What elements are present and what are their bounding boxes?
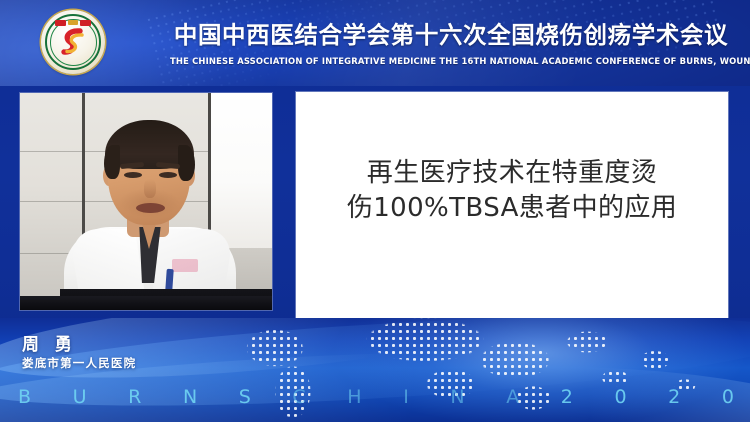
speaker-organization-label: 娄底市第一人民医院	[22, 355, 136, 371]
speaker-nose	[144, 179, 156, 198]
speaker-eye-right	[159, 172, 177, 178]
broadcast-stage: 中国中西医结合学会第十六次全国烧伤创疡学术会议 THE CHINESE ASSO…	[0, 0, 750, 422]
speaker-name-label: 周 勇	[22, 330, 77, 355]
conference-header-banner: 中国中西医结合学会第十六次全国烧伤创疡学术会议 THE CHINESE ASSO…	[0, 0, 750, 86]
world-map-dots-graphic	[215, 318, 750, 422]
slide-title-line2: 伤100%TBSA患者中的应用	[332, 191, 692, 226]
speaker-mouth	[136, 203, 165, 213]
speaker-hair-right	[178, 145, 195, 181]
speaker-podium-front	[20, 296, 272, 310]
speaker-eye-left	[124, 172, 142, 178]
speaker-coat-badge	[172, 259, 198, 272]
speaker-video-panel[interactable]	[20, 93, 272, 310]
slide-title-line1: 再生医疗技术在特重度烫	[332, 156, 692, 191]
conference-title-cn: 中国中西医结合学会第十六次全国烧伤创疡学术会议	[170, 20, 732, 50]
association-logo	[41, 10, 105, 74]
logo-s-emblem-icon	[58, 26, 88, 58]
slide-title-block: 再生医疗技术在特重度烫 伤100%TBSA患者中的应用	[332, 156, 692, 226]
speaker-figure	[20, 93, 272, 310]
logo-gold-mark	[68, 20, 78, 25]
presentation-slide-panel[interactable]: 再生医疗技术在特重度烫 伤100%TBSA患者中的应用	[296, 92, 728, 337]
conference-title-en: THE CHINESE ASSOCIATION OF INTEGRATIVE M…	[170, 55, 732, 67]
speaker-hair-left	[104, 145, 120, 179]
logo-red-mark	[80, 20, 91, 26]
logo-red-mark	[55, 20, 66, 26]
